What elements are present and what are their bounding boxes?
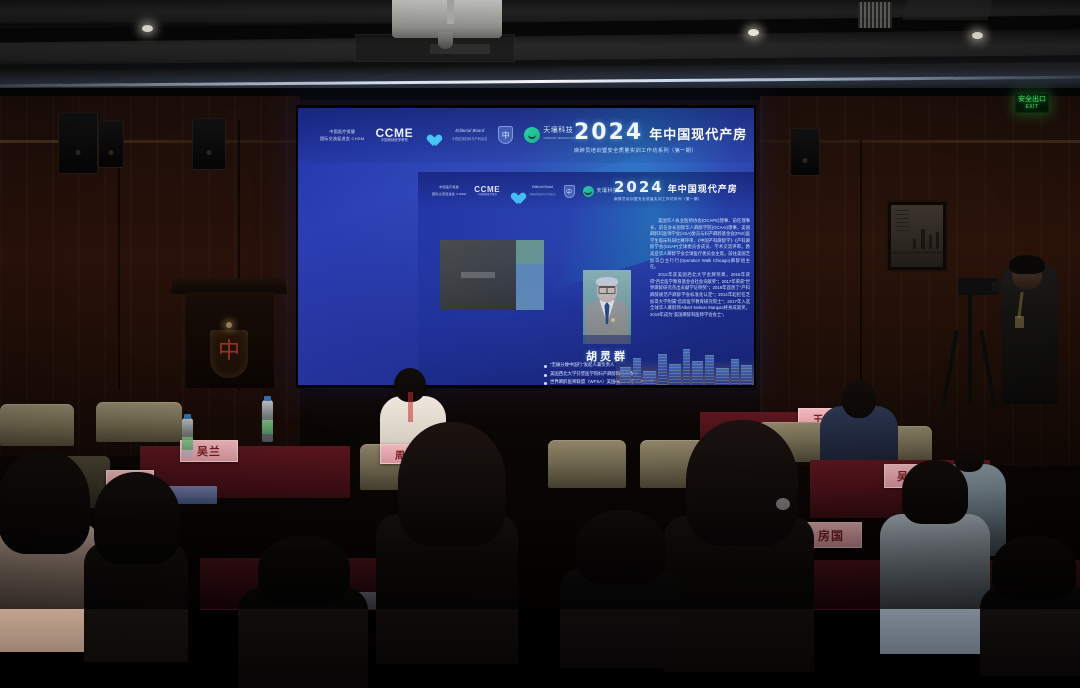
ceiling-seam-secondary: [0, 55, 1080, 71]
slide-title-block: 2024 年中国现代产房 麻醉员培训暨安全质量实训工作坊系列（第一期）: [574, 120, 747, 154]
ceiling-spotlight-3: [972, 32, 983, 39]
wall-seam-right: [860, 140, 862, 390]
slide-year: 2024: [574, 120, 643, 145]
hair-clip: [776, 498, 790, 510]
inner-slide-title-cn: 年中国现代产房: [668, 182, 738, 195]
slide-subtitle-cn: 麻醉员培训暨安全质量实训工作坊系列（第一期）: [574, 147, 747, 154]
chair: [548, 440, 626, 488]
name-card-text: 房国: [818, 527, 844, 544]
chsm-logo-line2: 国际交流促进会 CHSM: [320, 135, 365, 142]
wall-trim-left: [0, 140, 300, 143]
projector-mount-arm: [447, 0, 454, 24]
camera-operator-hair: [1009, 255, 1045, 274]
wall-speaker-left-secondary: [98, 120, 124, 168]
inner-tianrang-mark-icon: [583, 186, 594, 197]
ceiling-vent-right: [903, 0, 993, 20]
chsm-logo-line1: 中国医疗保健: [329, 128, 355, 135]
chair: [96, 402, 182, 442]
slide-thumbnail-panel: [440, 240, 544, 310]
thumbnail-main-region: [440, 240, 516, 310]
attendee-torso: [880, 514, 990, 654]
water-bottle[interactable]: [262, 400, 273, 442]
framed-painting: [886, 200, 948, 272]
ccme-logo-line2: 中国继续医学教育: [381, 139, 408, 142]
portrait-hair: [596, 277, 618, 285]
inner-slide-title-block: 2024 年中国现代产房 麻醉员培训暨安全质量实训工作坊系列（第一期）: [614, 178, 738, 202]
painting-inscription: [896, 210, 909, 232]
attendee-lanyard: [408, 392, 413, 422]
exit-sign: 安全出口 EXIT: [1015, 93, 1049, 113]
painting-waterline: [891, 251, 943, 254]
slide-title-cn: 年中国现代产房: [649, 124, 747, 143]
tianrang-name-cn: 天壤科技: [543, 127, 575, 135]
slide-logo-row: 中国医疗保健 国际交流促进会 CHSM CCME 中国继续医学教育 Editor…: [320, 126, 576, 144]
podium-reading-light: [226, 322, 232, 328]
attendee-head: [842, 380, 876, 418]
inner-editorial-board-logo: Editorial Board 中国实用妇科与产科杂志: [529, 183, 555, 199]
inner-ccme-logo: CCME 中国继续医学教育: [474, 186, 500, 196]
editorial-board-line2: 中国实用妇科与产科杂志: [452, 135, 487, 143]
thumbnail-side-bars: [516, 240, 544, 310]
heart-logo: [424, 129, 441, 142]
inner-eb-line2: 中国实用妇科与产科杂志: [529, 191, 555, 199]
glasses-icon: [599, 286, 616, 291]
painting-stroke-1: [921, 229, 925, 249]
inner-ccme-line2: 中国继续医学教育: [478, 194, 497, 196]
attendee-hair: [686, 420, 798, 546]
inner-slide-preview: 中国医疗保健 国际交流促进会 CHSM CCME 中国继续医学教育 Editor…: [418, 172, 754, 385]
tianrang-name-en: TIANRANG TECHNOLOGY: [543, 135, 575, 143]
speaker-bio-text: 美国华人执业医师协会(OCAPE)理事、前任理事长，前任会长国际华人麻醉学院(O…: [650, 218, 750, 320]
wall-speaker-left-inner: [192, 118, 226, 170]
tianrang-mark-icon: [524, 127, 540, 143]
attendee-hair: [992, 536, 1076, 600]
projector-vent-grille: [858, 2, 892, 28]
wall-speaker-right: [790, 128, 820, 176]
wall-seam-left: [118, 130, 120, 390]
attendee-hair: [94, 472, 180, 564]
inner-chsm-logo: 中国医疗保健 国际交流促进会 CHSM: [432, 184, 466, 198]
inner-eb-line1: Editorial Board: [532, 183, 553, 191]
inner-slide-subtitle-cn: 麻醉员培训暨安全质量实训工作坊系列（第一期）: [614, 197, 738, 202]
wall-speaker-left: [58, 112, 98, 174]
chair: [0, 404, 74, 446]
editorial-board-logo: Editorial Board 中国实用妇科与产科杂志: [452, 127, 487, 143]
chsm-logo: 中国医疗保健 国际交流促进会 CHSM: [320, 128, 365, 142]
inner-slide-logo-row: 中国医疗保健 国际交流促进会 CHSM CCME 中国继续医学教育 Editor…: [432, 183, 619, 199]
ceiling-spotlight-2: [748, 29, 759, 36]
painting-canvas: [891, 205, 943, 267]
bio-paragraph: 美国华人执业医师协会(OCAPE)理事、前任理事长，前任会长国际华人麻醉学院(O…: [650, 218, 750, 271]
attendee-hair: [0, 450, 90, 554]
bottle-cap: [264, 396, 271, 401]
inner-shield-logo: 中: [564, 185, 575, 198]
bottle-cap: [184, 414, 191, 419]
inner-slide-year: 2024: [614, 178, 664, 196]
exit-sign-label-en: EXIT: [1025, 104, 1038, 110]
projection-screen: 中国医疗保健 国际交流促进会 CHSM CCME 中国继续医学教育 Editor…: [296, 105, 756, 388]
inner-heart-logo: [508, 187, 521, 196]
conference-hall-scene: 安全出口 EXIT 中国医疗保健 国际交流促进会 CHSM: [0, 0, 1080, 609]
name-card-text: 吴兰: [197, 443, 221, 459]
painting-stroke-2: [929, 235, 932, 249]
attendee-hair: [576, 510, 666, 584]
heart-icon: [424, 129, 438, 142]
inner-chsm-line1: 中国医疗保健: [439, 184, 459, 191]
audience-area: 王军 吴兰: [0, 360, 1080, 609]
attendee-hair: [902, 460, 968, 524]
shield-logo: 中: [498, 126, 513, 144]
attendee-hair: [398, 422, 506, 546]
bio-paragraph: 2013年获美国西北大学金牌奖章，2016年获得“西北医学教育基金会社会贡献奖”…: [650, 272, 750, 318]
ccme-logo: CCME 中国继续医学教育: [376, 127, 414, 142]
painting-stroke-3: [936, 232, 939, 249]
inner-heart-icon: [508, 187, 518, 196]
presentation-slide: 中国医疗保健 国际交流促进会 CHSM CCME 中国继续医学教育 Editor…: [298, 108, 754, 385]
bottle-label: [182, 437, 193, 450]
tianrang-tech-logo: 天壤科技 TIANRANG TECHNOLOGY: [524, 127, 575, 143]
water-bottle[interactable]: [182, 418, 193, 458]
ceiling-spotlight-1: [142, 25, 153, 32]
attendee-hair: [258, 536, 350, 604]
inner-chsm-line2: 国际交流促进会 CHSM: [432, 191, 466, 198]
exit-sign-label-cn: 安全出口: [1018, 96, 1046, 104]
portrait-lapel-pin: [611, 318, 615, 322]
painting-stroke-4: [913, 239, 916, 249]
operator-badge: [1015, 316, 1024, 328]
editorial-board-line1: Editorial Board: [455, 127, 484, 135]
tianrang-text: 天壤科技 TIANRANG TECHNOLOGY: [543, 127, 575, 143]
bottle-label: [262, 420, 273, 433]
